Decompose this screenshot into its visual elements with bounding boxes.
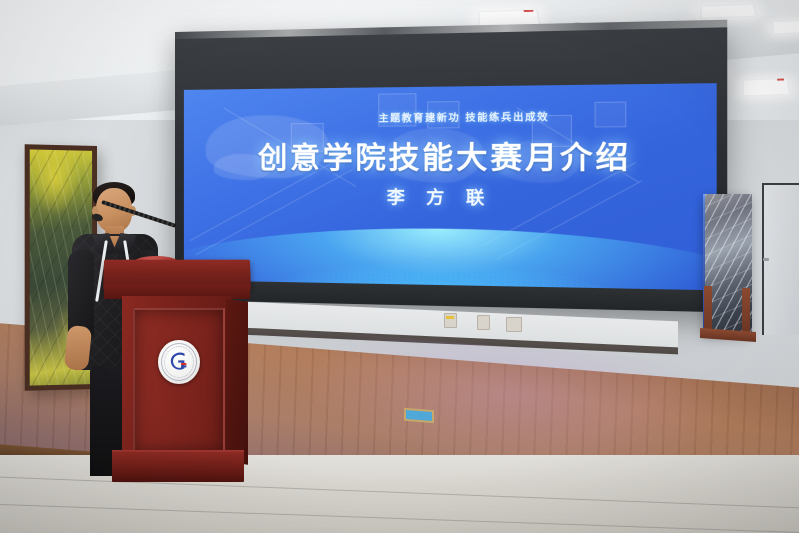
ceiling-light-panel [700, 3, 757, 19]
presentation-slide: 主题教育建新功 技能练兵出成效 创意学院技能大赛月介绍 李 方 联 [184, 83, 717, 290]
slide-text-block: 主题教育建新功 技能练兵出成效 创意学院技能大赛月介绍 李 方 联 [184, 83, 717, 290]
ceiling-light-panel [742, 78, 791, 97]
slide-title: 创意学院技能大赛月介绍 [258, 133, 631, 178]
podium-side-panel [226, 299, 248, 465]
ceiling-light-panel [772, 20, 799, 35]
led-video-wall: 主题教育建新功 技能练兵出成效 创意学院技能大赛月介绍 李 方 联 [175, 20, 727, 313]
slide-presenter-name: 李 方 联 [387, 183, 492, 210]
outlet-indicator-icon [446, 316, 454, 319]
podium-plinth [112, 452, 244, 482]
floor-outlet-cover[interactable] [404, 408, 434, 423]
door-handle[interactable] [763, 258, 769, 261]
wall-outlet[interactable] [444, 313, 457, 328]
seal-logo-icon [168, 351, 190, 373]
light-indicator [777, 79, 784, 81]
slide-kicker: 主题教育建新功 技能练兵出成效 [379, 109, 550, 125]
wall-outlet[interactable] [477, 315, 490, 330]
wall-outlet[interactable] [506, 317, 522, 332]
light-indicator [524, 10, 533, 12]
institution-seal [158, 340, 200, 384]
presentation-hall-photo: 主题教育建新功 技能练兵出成效 创意学院技能大赛月介绍 李 方 联 [0, 0, 799, 533]
